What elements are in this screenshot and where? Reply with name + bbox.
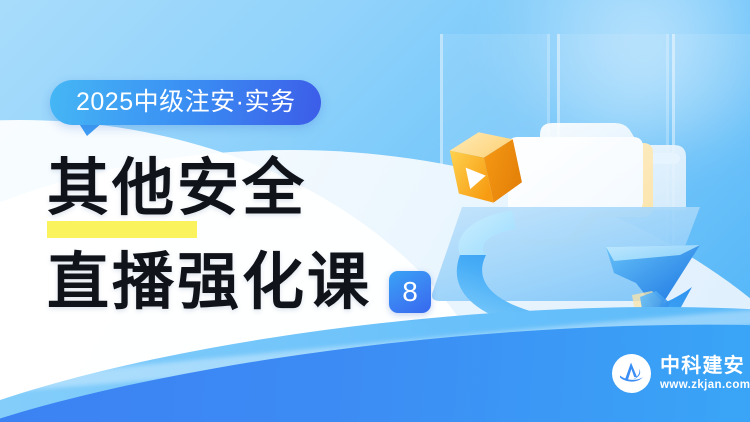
course-banner: 2025中级注安·实务 其他安全 直播强化课 8 中科建安 www.zkjan.…	[0, 0, 750, 422]
course-title-line-1: 其他安全	[47, 158, 307, 220]
course-title-line-2: 直播强化课	[47, 252, 372, 314]
lesson-number-label: 8	[402, 278, 418, 306]
title-highlight-bar	[47, 221, 197, 238]
brand-logo: 中科建安 www.zkjan.com	[612, 354, 750, 393]
brand-logo-text: 中科建安 www.zkjan.com	[660, 355, 750, 392]
brand-url: www.zkjan.com	[660, 378, 750, 392]
course-tag-badge: 2025中级注安·实务	[50, 80, 321, 125]
course-tag-label: 2025中级注安·实务	[76, 90, 295, 115]
lesson-number-badge: 8	[389, 271, 431, 313]
headline-block: 2025中级注安·实务 其他安全 直播强化课 8	[0, 0, 460, 422]
brand-name: 中科建安	[660, 355, 750, 377]
compass-sail-logo-icon	[612, 354, 651, 393]
